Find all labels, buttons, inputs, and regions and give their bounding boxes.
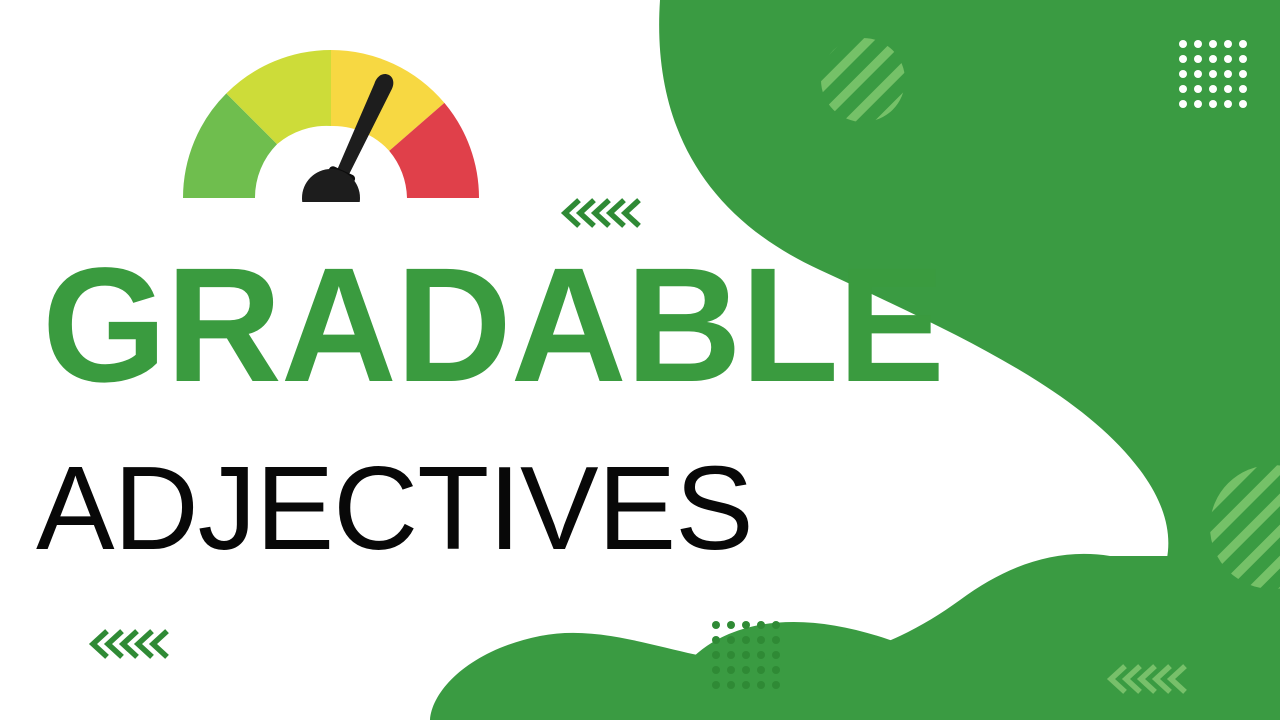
dot: [772, 621, 780, 629]
dot: [757, 636, 765, 644]
dot: [712, 651, 720, 659]
dot: [1209, 70, 1217, 78]
dot: [727, 651, 735, 659]
dot: [1224, 40, 1232, 48]
dot: [772, 636, 780, 644]
dot: [1239, 70, 1247, 78]
dot: [712, 681, 720, 689]
gauge-needle-hub: [302, 169, 360, 202]
chevron-cluster-top: [560, 197, 642, 229]
speedometer-gauge: [175, 22, 487, 202]
dot: [1209, 55, 1217, 63]
dot: [742, 621, 750, 629]
chevron-left-icon: [93, 633, 105, 655]
dot: [1179, 85, 1187, 93]
dot: [1209, 85, 1217, 93]
dot: [1224, 85, 1232, 93]
dot: [1194, 70, 1202, 78]
dot: [772, 681, 780, 689]
chevron-cluster-bottom-left: [88, 628, 170, 660]
chevron-left-icon: [108, 633, 120, 655]
dot: [772, 666, 780, 674]
chevron-cluster-bottom-right: [1106, 663, 1188, 695]
dot: [1239, 55, 1247, 63]
dot: [712, 621, 720, 629]
dot-grid-bottom: [709, 618, 784, 693]
dot: [757, 621, 765, 629]
dot: [1179, 70, 1187, 78]
page-title: GRADABLE: [42, 249, 1017, 401]
chevron-left-icon: [1111, 668, 1123, 690]
chevron-left-icon: [1141, 668, 1153, 690]
chevron-left-icon: [580, 202, 592, 224]
dot: [742, 666, 750, 674]
dot: [727, 666, 735, 674]
dot: [757, 681, 765, 689]
chevron-left-icon: [625, 202, 637, 224]
dot: [742, 651, 750, 659]
dot: [1209, 100, 1217, 108]
dot: [1194, 40, 1202, 48]
dot: [712, 636, 720, 644]
dot: [712, 666, 720, 674]
dot: [1194, 100, 1202, 108]
chevron-left-icon: [1126, 668, 1138, 690]
dot: [1179, 40, 1187, 48]
dot: [757, 666, 765, 674]
slide-canvas: GRADABLE ADJECTIVES: [0, 0, 1280, 720]
dot: [1239, 100, 1247, 108]
dot: [742, 681, 750, 689]
dot-grid-top-right: [1176, 37, 1251, 112]
dot: [1194, 55, 1202, 63]
page-subtitle: ADJECTIVES: [36, 453, 788, 565]
dot: [727, 636, 735, 644]
chevron-left-icon: [1171, 668, 1183, 690]
dot: [1194, 85, 1202, 93]
chevron-left-icon: [153, 633, 165, 655]
dot: [772, 651, 780, 659]
chevron-left-icon: [610, 202, 622, 224]
dot: [1209, 40, 1217, 48]
dot: [742, 636, 750, 644]
dot: [1179, 55, 1187, 63]
dot: [1179, 100, 1187, 108]
chevron-left-icon: [565, 202, 577, 224]
dot: [1224, 70, 1232, 78]
dot: [727, 681, 735, 689]
dot: [1224, 100, 1232, 108]
dot: [727, 621, 735, 629]
chevron-left-icon: [595, 202, 607, 224]
dot: [1224, 55, 1232, 63]
chevron-left-icon: [138, 633, 150, 655]
dot: [1239, 40, 1247, 48]
chevron-left-icon: [1156, 668, 1168, 690]
chevron-left-icon: [123, 633, 135, 655]
dot: [757, 651, 765, 659]
dot: [1239, 85, 1247, 93]
